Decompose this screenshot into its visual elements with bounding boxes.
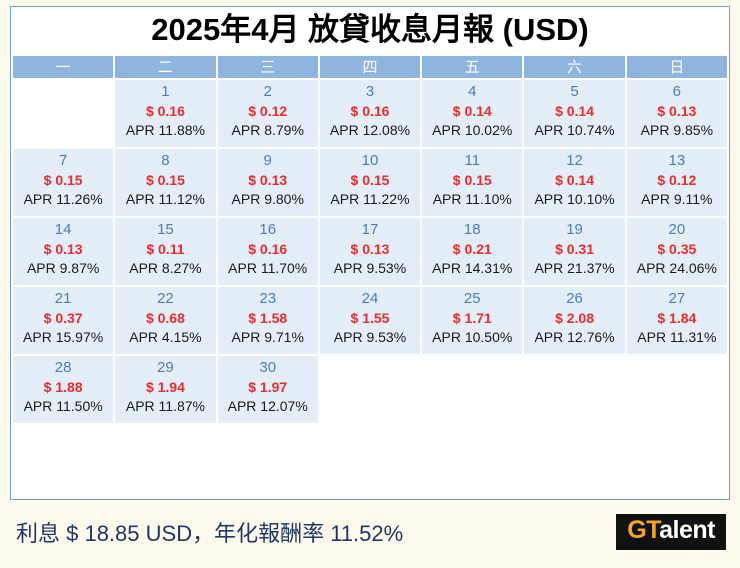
interest-amount: $ 0.13 <box>13 240 113 259</box>
calendar-day-cell[interactable]: 10$ 0.15APR 11.22% <box>320 149 420 216</box>
calendar-week-row: 28$ 1.88APR 11.50%29$ 1.94APR 11.87%30$ … <box>13 356 727 423</box>
apr-value: APR 8.27% <box>115 259 215 278</box>
interest-amount: $ 0.15 <box>115 171 215 190</box>
apr-value: APR 12.07% <box>218 397 318 416</box>
day-number: 1 <box>115 82 215 102</box>
apr-value: APR 11.12% <box>115 190 215 209</box>
weekday-header-2: 二 <box>115 56 215 78</box>
weekday-header-6: 六 <box>524 56 624 78</box>
calendar-day-cell[interactable]: 7$ 0.15APR 11.26% <box>13 149 113 216</box>
logo-rest-text: alent <box>659 516 715 544</box>
day-number: 18 <box>422 220 522 240</box>
day-number: 30 <box>218 358 318 378</box>
apr-value: APR 10.50% <box>422 328 522 347</box>
calendar-day-cell[interactable]: 4$ 0.14APR 10.02% <box>422 80 522 147</box>
logo-accent-text: GT <box>627 516 659 544</box>
day-number: 3 <box>320 82 420 102</box>
day-number: 17 <box>320 220 420 240</box>
interest-amount: $ 0.35 <box>627 240 727 259</box>
day-number: 28 <box>13 358 113 378</box>
day-number: 12 <box>524 151 624 171</box>
interest-amount: $ 1.84 <box>627 309 727 328</box>
calendar-day-cell[interactable]: 20$ 0.35APR 24.06% <box>627 218 727 285</box>
apr-value: APR 11.87% <box>115 397 215 416</box>
interest-amount: $ 0.16 <box>115 102 215 121</box>
interest-amount: $ 0.15 <box>13 171 113 190</box>
apr-value: APR 9.11% <box>627 190 727 209</box>
interest-amount: $ 0.14 <box>524 102 624 121</box>
interest-amount: $ 0.15 <box>422 171 522 190</box>
calendar-card: 2025年4月 放貸收息月報 (USD) 一二三四五六日 1$ 0.16APR … <box>10 6 730 500</box>
apr-value: APR 10.10% <box>524 190 624 209</box>
interest-amount: $ 0.11 <box>115 240 215 259</box>
calendar-day-cell[interactable]: 14$ 0.13APR 9.87% <box>13 218 113 285</box>
interest-amount: $ 1.97 <box>218 378 318 397</box>
summary-text: 利息 $ 18.85 USD，年化報酬率 11.52% <box>10 516 403 548</box>
calendar-cell-empty <box>13 80 113 147</box>
day-number: 9 <box>218 151 318 171</box>
calendar-week-row: 1$ 0.16APR 11.88%2$ 0.12APR 8.79%3$ 0.16… <box>13 80 727 147</box>
calendar-day-cell[interactable]: 27$ 1.84APR 11.31% <box>627 287 727 354</box>
calendar-day-cell[interactable]: 6$ 0.13APR 9.85% <box>627 80 727 147</box>
interest-amount: $ 1.55 <box>320 309 420 328</box>
day-number: 21 <box>13 289 113 309</box>
interest-amount: $ 0.16 <box>218 240 318 259</box>
interest-amount: $ 0.12 <box>218 102 318 121</box>
calendar-day-cell[interactable]: 8$ 0.15APR 11.12% <box>115 149 215 216</box>
calendar-day-cell[interactable]: 16$ 0.16APR 11.70% <box>218 218 318 285</box>
weekday-header-7: 日 <box>627 56 727 78</box>
interest-amount: $ 0.12 <box>627 171 727 190</box>
apr-value: APR 11.10% <box>422 190 522 209</box>
weekday-header-4: 四 <box>320 56 420 78</box>
day-number: 10 <box>320 151 420 171</box>
calendar-week-row: 21$ 0.37APR 15.97%22$ 0.68APR 4.15%23$ 1… <box>13 287 727 354</box>
apr-value: APR 11.22% <box>320 190 420 209</box>
interest-amount: $ 0.13 <box>218 171 318 190</box>
calendar-day-cell[interactable]: 23$ 1.58APR 9.71% <box>218 287 318 354</box>
apr-value: APR 11.88% <box>115 121 215 140</box>
calendar-header: 一二三四五六日 <box>13 56 727 78</box>
apr-value: APR 8.79% <box>218 121 318 140</box>
apr-value: APR 10.02% <box>422 121 522 140</box>
interest-amount: $ 0.37 <box>13 309 113 328</box>
weekday-header-1: 一 <box>13 56 113 78</box>
day-number: 2 <box>218 82 318 102</box>
weekday-header-3: 三 <box>218 56 318 78</box>
calendar-day-cell[interactable]: 24$ 1.55APR 9.53% <box>320 287 420 354</box>
interest-amount: $ 0.31 <box>524 240 624 259</box>
page-title: 2025年4月 放貸收息月報 (USD) <box>11 7 729 54</box>
calendar-day-cell[interactable]: 12$ 0.14APR 10.10% <box>524 149 624 216</box>
interest-amount: $ 0.16 <box>320 102 420 121</box>
calendar-day-cell[interactable]: 29$ 1.94APR 11.87% <box>115 356 215 423</box>
apr-value: APR 9.80% <box>218 190 318 209</box>
day-number: 24 <box>320 289 420 309</box>
calendar-day-cell[interactable]: 22$ 0.68APR 4.15% <box>115 287 215 354</box>
apr-value: APR 10.74% <box>524 121 624 140</box>
apr-value: APR 21.37% <box>524 259 624 278</box>
weekday-header-5: 五 <box>422 56 522 78</box>
day-number: 4 <box>422 82 522 102</box>
day-number: 16 <box>218 220 318 240</box>
day-number: 11 <box>422 151 522 171</box>
apr-value: APR 11.70% <box>218 259 318 278</box>
calendar-week-row: 7$ 0.15APR 11.26%8$ 0.15APR 11.12%9$ 0.1… <box>13 149 727 216</box>
interest-amount: $ 0.14 <box>524 171 624 190</box>
day-number: 27 <box>627 289 727 309</box>
report-page: 2025年4月 放貸收息月報 (USD) 一二三四五六日 1$ 0.16APR … <box>0 0 740 568</box>
apr-value: APR 9.53% <box>320 259 420 278</box>
interest-amount: $ 0.13 <box>320 240 420 259</box>
day-number: 20 <box>627 220 727 240</box>
report-footer: 利息 $ 18.85 USD，年化報酬率 11.52% GTalent <box>10 502 730 562</box>
interest-amount: $ 1.71 <box>422 309 522 328</box>
day-number: 15 <box>115 220 215 240</box>
interest-amount: $ 1.88 <box>13 378 113 397</box>
calendar-day-cell[interactable]: 28$ 1.88APR 11.50% <box>13 356 113 423</box>
calendar-cell-empty <box>524 356 624 423</box>
day-number: 7 <box>13 151 113 171</box>
apr-value: APR 9.53% <box>320 328 420 347</box>
interest-amount: $ 0.21 <box>422 240 522 259</box>
day-number: 26 <box>524 289 624 309</box>
apr-value: APR 4.15% <box>115 328 215 347</box>
apr-value: APR 24.06% <box>627 259 727 278</box>
interest-amount: $ 0.14 <box>422 102 522 121</box>
day-number: 14 <box>13 220 113 240</box>
calendar-day-cell[interactable]: 25$ 1.71APR 10.50% <box>422 287 522 354</box>
day-number: 25 <box>422 289 522 309</box>
apr-value: APR 12.08% <box>320 121 420 140</box>
calendar-day-cell[interactable]: 19$ 0.31APR 21.37% <box>524 218 624 285</box>
calendar-day-cell[interactable]: 26$ 2.08APR 12.76% <box>524 287 624 354</box>
gtalent-logo: GTalent <box>616 514 726 550</box>
calendar-day-cell[interactable]: 15$ 0.11APR 8.27% <box>115 218 215 285</box>
interest-amount: $ 2.08 <box>524 309 624 328</box>
calendar-day-cell[interactable]: 18$ 0.21APR 14.31% <box>422 218 522 285</box>
calendar-day-cell[interactable]: 13$ 0.12APR 9.11% <box>627 149 727 216</box>
calendar-cell-empty <box>320 356 420 423</box>
apr-value: APR 12.76% <box>524 328 624 347</box>
day-number: 23 <box>218 289 318 309</box>
interest-amount: $ 0.68 <box>115 309 215 328</box>
interest-amount: $ 0.15 <box>320 171 420 190</box>
day-number: 8 <box>115 151 215 171</box>
calendar-cell-empty <box>422 356 522 423</box>
interest-calendar-table: 一二三四五六日 1$ 0.16APR 11.88%2$ 0.12APR 8.79… <box>11 54 729 425</box>
calendar-day-cell[interactable]: 17$ 0.13APR 9.53% <box>320 218 420 285</box>
calendar-day-cell[interactable]: 30$ 1.97APR 12.07% <box>218 356 318 423</box>
calendar-day-cell[interactable]: 3$ 0.16APR 12.08% <box>320 80 420 147</box>
interest-amount: $ 0.13 <box>627 102 727 121</box>
apr-value: APR 9.85% <box>627 121 727 140</box>
calendar-day-cell[interactable]: 2$ 0.12APR 8.79% <box>218 80 318 147</box>
apr-value: APR 9.71% <box>218 328 318 347</box>
interest-amount: $ 1.94 <box>115 378 215 397</box>
day-number: 5 <box>524 82 624 102</box>
apr-value: APR 11.26% <box>13 190 113 209</box>
calendar-cell-empty <box>627 356 727 423</box>
calendar-day-cell[interactable]: 1$ 0.16APR 11.88% <box>115 80 215 147</box>
calendar-body: 1$ 0.16APR 11.88%2$ 0.12APR 8.79%3$ 0.16… <box>13 80 727 423</box>
calendar-day-cell[interactable]: 21$ 0.37APR 15.97% <box>13 287 113 354</box>
calendar-day-cell[interactable]: 5$ 0.14APR 10.74% <box>524 80 624 147</box>
apr-value: APR 14.31% <box>422 259 522 278</box>
day-number: 22 <box>115 289 215 309</box>
calendar-day-cell[interactable]: 11$ 0.15APR 11.10% <box>422 149 522 216</box>
day-number: 19 <box>524 220 624 240</box>
weekday-header-row: 一二三四五六日 <box>13 56 727 78</box>
day-number: 6 <box>627 82 727 102</box>
apr-value: APR 11.31% <box>627 328 727 347</box>
calendar-week-row: 14$ 0.13APR 9.87%15$ 0.11APR 8.27%16$ 0.… <box>13 218 727 285</box>
calendar-day-cell[interactable]: 9$ 0.13APR 9.80% <box>218 149 318 216</box>
apr-value: APR 15.97% <box>13 328 113 347</box>
apr-value: APR 9.87% <box>13 259 113 278</box>
day-number: 29 <box>115 358 215 378</box>
apr-value: APR 11.50% <box>13 397 113 416</box>
interest-amount: $ 1.58 <box>218 309 318 328</box>
day-number: 13 <box>627 151 727 171</box>
